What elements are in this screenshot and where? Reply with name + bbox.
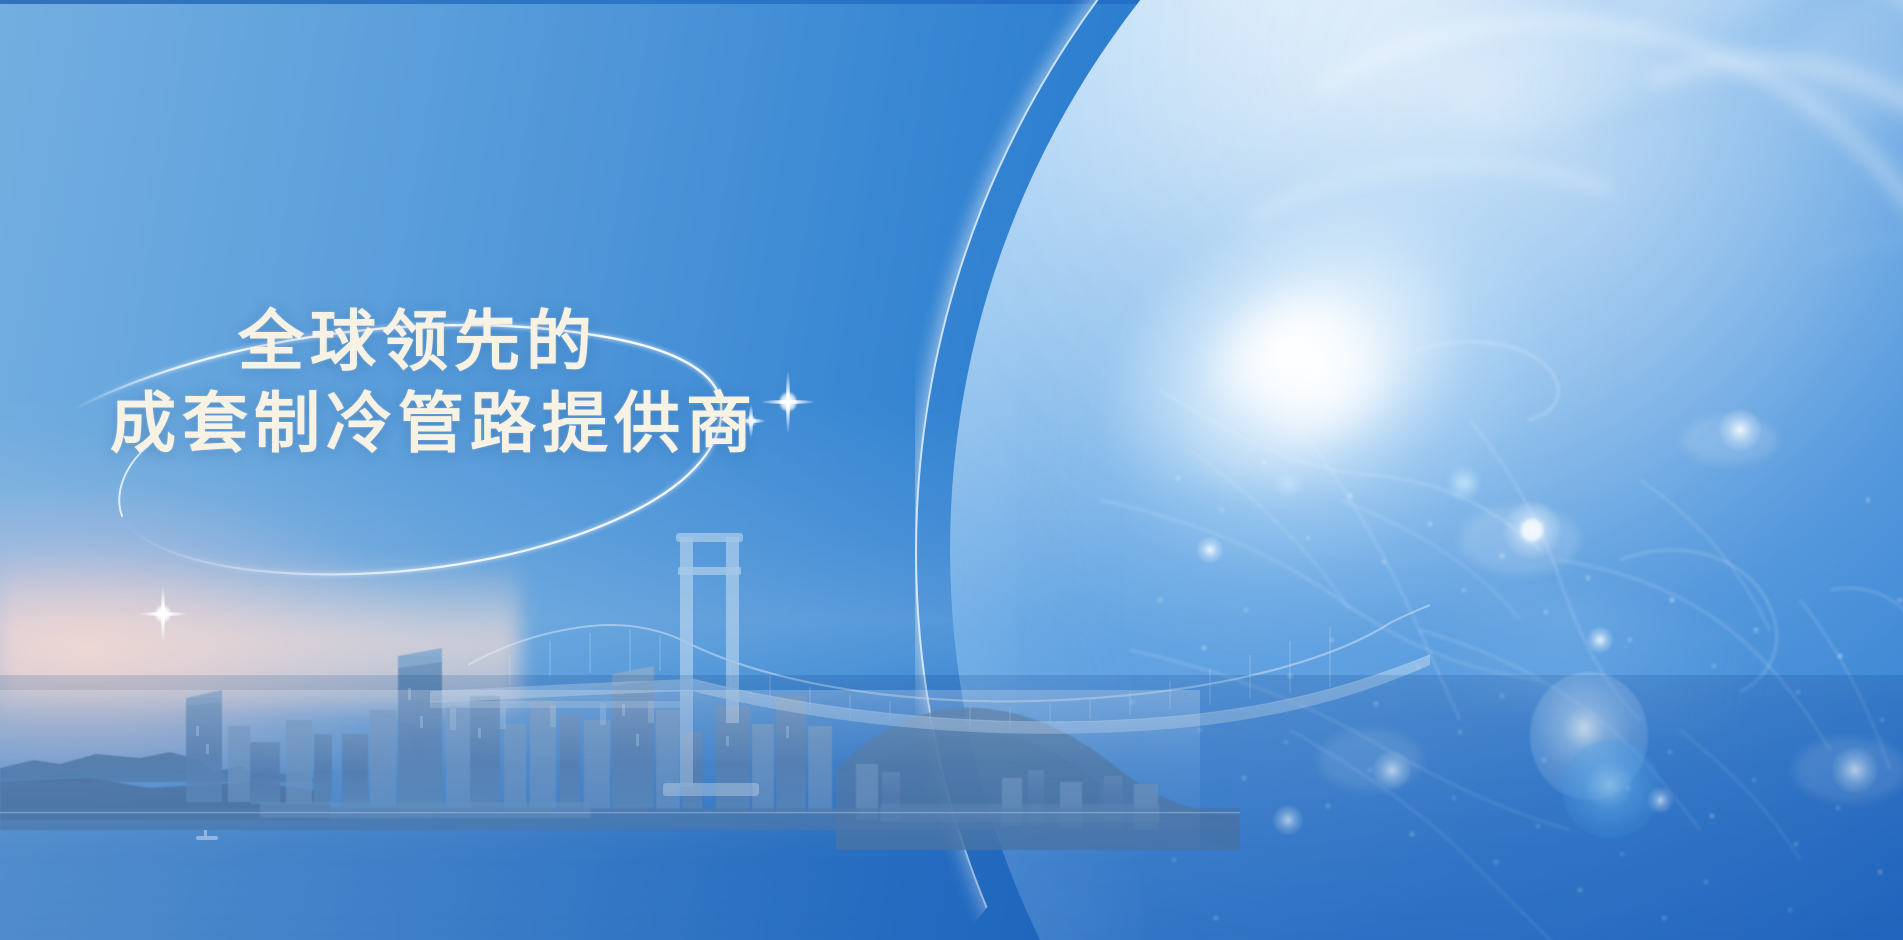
hero-headline: 全球领先的 成套制冷管路提供商 (110, 300, 758, 464)
lens-flare-small-a (1447, 466, 1481, 500)
hero-banner: 全球领先的 成套制冷管路提供商 (0, 0, 1903, 940)
headline-line-2: 成套制冷管路提供商 (110, 382, 758, 464)
headline-line-1: 全球领先的 (238, 300, 758, 382)
lens-flare-small-b (1274, 470, 1302, 498)
water-sheen (0, 690, 1200, 940)
